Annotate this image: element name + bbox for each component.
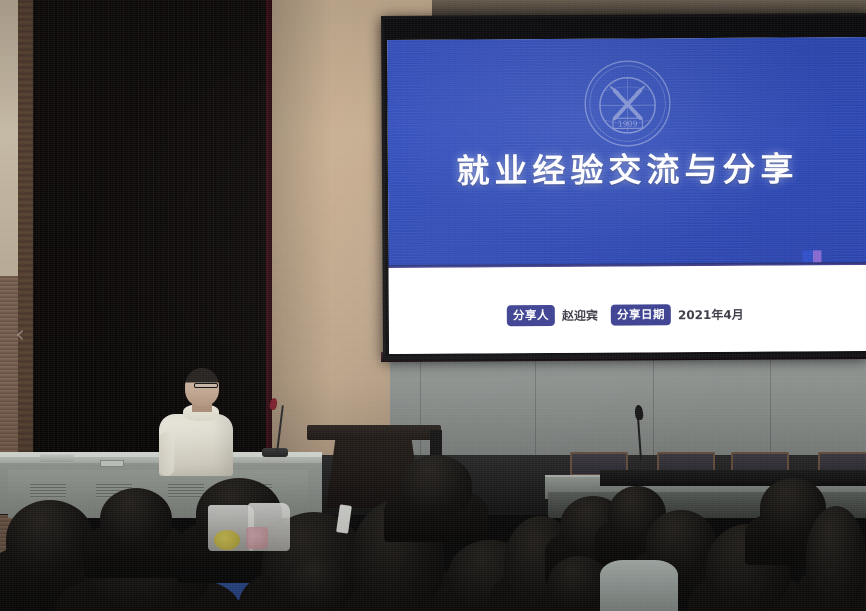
presenter-name-value: 赵迎宾 (562, 307, 598, 324)
slide-meta-row: 分享人 赵迎宾 分享日期 2021年4月 (507, 304, 750, 326)
audience-member-head (6, 500, 94, 578)
projection-screen: 1909 就业经验交流与分享 分享人 赵迎宾 分享日期 2021年4月 (381, 13, 866, 360)
photo-scene: 1909 就业经验交流与分享 分享人 赵迎宾 分享日期 2021年4月 (0, 0, 866, 611)
svg-text:1909: 1909 (617, 120, 637, 129)
university-crest-icon: 1909 (581, 58, 674, 151)
main-wall-shadow (272, 0, 332, 470)
audience-member-head (806, 506, 866, 611)
stage-curtain (33, 0, 268, 500)
slide-blue-panel: 1909 就业经验交流与分享 (387, 37, 866, 268)
audience-member-head (400, 455, 472, 515)
audience-member-head (284, 555, 354, 611)
bag-contents-fruit (214, 530, 240, 550)
slide-accent-rectangle (802, 250, 821, 262)
bag-contents-item (246, 527, 268, 549)
presenter-badge-label: 分享人 (507, 305, 555, 326)
previous-photo-chevron-icon[interactable]: ‹ (6, 318, 34, 350)
share-date-value: 2021年4月 (678, 306, 744, 323)
audience-member-head (100, 488, 172, 550)
audience-light-jacket (600, 560, 678, 611)
date-badge-label: 分享日期 (611, 305, 671, 326)
slide-title: 就业经验交流与分享 (388, 142, 866, 193)
presentation-slide: 1909 就业经验交流与分享 分享人 赵迎宾 分享日期 2021年4月 (387, 37, 866, 354)
podium-top (307, 425, 441, 440)
slide-footer-band: 分享人 赵迎宾 分享日期 2021年4月 (389, 265, 866, 354)
presenter-glasses (194, 383, 218, 388)
